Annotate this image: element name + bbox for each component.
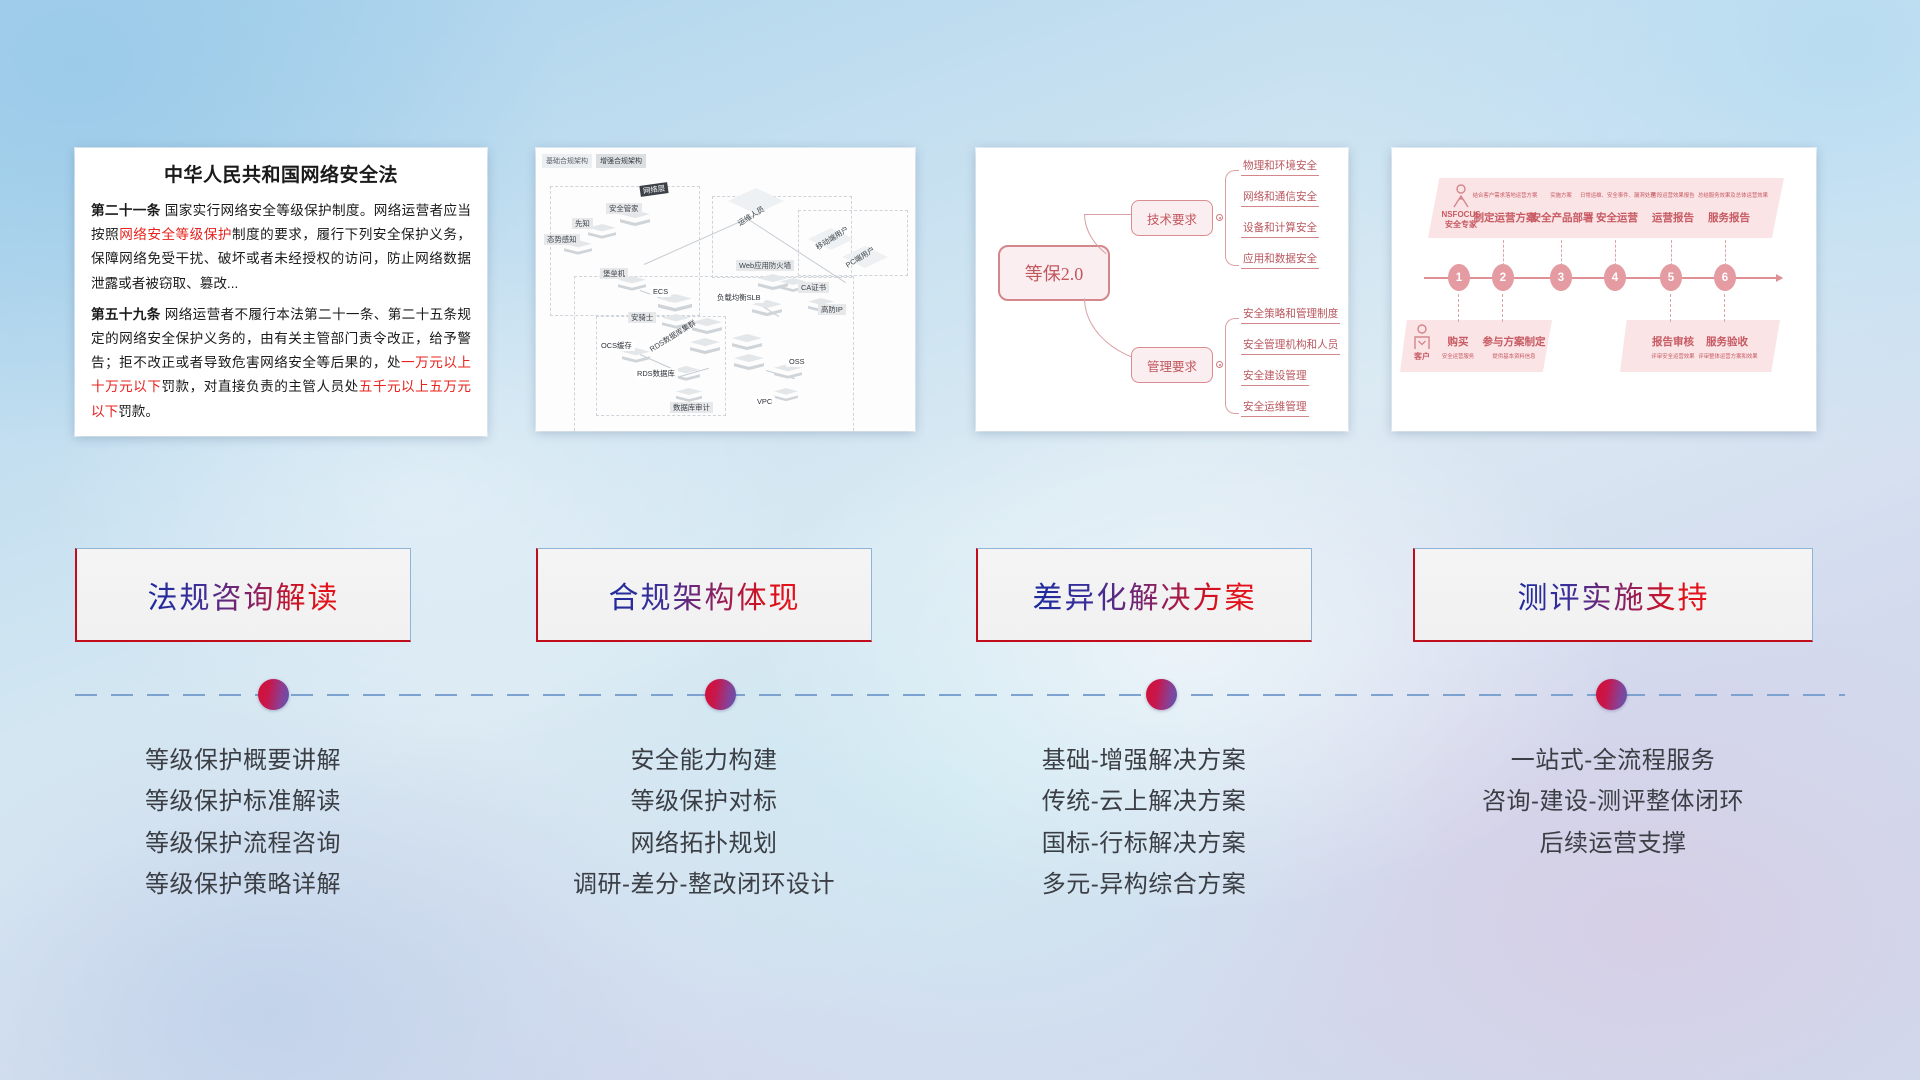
headline-label: 合规架构体现 bbox=[609, 573, 801, 617]
headline-box-compliance-architecture[interactable]: 合规架构体现 bbox=[536, 548, 872, 642]
node-rds-cluster-c bbox=[732, 334, 762, 356]
connector bbox=[1503, 240, 1504, 266]
detail-item: 网络拓扑规划 bbox=[536, 823, 872, 864]
detail-column-regulation-consulting: 等级保护概要讲解 等级保护标准解读 等级保护流程咨询 等级保护策略详解 bbox=[75, 740, 411, 905]
top-step-sub: 总结服务效果及总体运营效果 bbox=[1694, 191, 1772, 199]
tab-enhanced-architecture[interactable]: 增强合规架构 bbox=[596, 154, 646, 168]
law-title: 中华人民共和国网络安全法 bbox=[91, 160, 471, 187]
label-situation-awareness: 态势感知 bbox=[544, 234, 580, 245]
mindmap-collapse-icon-tech[interactable] bbox=[1216, 214, 1223, 221]
bottom-step-title: 服务验收 bbox=[1698, 334, 1756, 349]
detail-item: 等级保护概要讲解 bbox=[75, 740, 411, 781]
node-slb bbox=[752, 300, 782, 322]
connector bbox=[1458, 294, 1459, 322]
law-article-59: 第五十九条 网络运营者不履行本法第二十一条、第二十五条规定的网络安全保护义务的，… bbox=[91, 303, 471, 424]
connector bbox=[1670, 294, 1671, 322]
card-dengbao-mindmap[interactable]: 等保2.0 技术要求 管理要求 物理和环境安全 网络和通信安全 设备和计算安全 … bbox=[976, 148, 1348, 431]
mindmap-leaf: 安全建设管理 bbox=[1241, 368, 1309, 386]
connector bbox=[1671, 240, 1672, 266]
headline-label: 差异化解决方案 bbox=[1033, 573, 1257, 617]
timeline-node-4[interactable] bbox=[1596, 679, 1627, 710]
label-xianzhi: 先知 bbox=[572, 218, 593, 229]
law-article-21-label: 第二十一条 bbox=[91, 203, 161, 218]
label-database-audit: 数据库审计 bbox=[670, 402, 713, 413]
connector bbox=[1502, 294, 1503, 322]
label-security-manager: 安全管家 bbox=[606, 203, 642, 214]
card-cybersecurity-law[interactable]: 中华人民共和国网络安全法 第二十一条 国家实行网络安全等级保护制度。网络运营者应… bbox=[75, 148, 487, 436]
timeline-step-5[interactable]: 5 bbox=[1660, 264, 1682, 291]
card-nsfocus-service-timeline[interactable]: NSFOCUS 安全专家 客户 1 2 3 4 5 6 bbox=[1392, 148, 1816, 431]
headline-label: 法规咨询解读 bbox=[148, 573, 340, 617]
mindmap-bracket-mgmt bbox=[1225, 318, 1239, 414]
headline-box-regulation-consulting[interactable]: 法规咨询解读 bbox=[75, 548, 411, 642]
thumbnail-card-row: 中华人民共和国网络安全法 第二十一条 国家实行网络安全等级保护制度。网络运营者应… bbox=[0, 148, 1920, 438]
timeline-step-3[interactable]: 3 bbox=[1550, 264, 1572, 291]
bottom-step-title: 购买 bbox=[1436, 334, 1480, 349]
top-step-title: 服务报告 bbox=[1700, 210, 1758, 225]
timeline-step-4[interactable]: 4 bbox=[1604, 264, 1626, 291]
label-ocs-cache: OCS缓存 bbox=[598, 340, 635, 351]
mindmap-bracket-tech bbox=[1225, 170, 1239, 266]
mindmap-leaf: 安全运维管理 bbox=[1241, 399, 1309, 417]
timeline-step-1[interactable]: 1 bbox=[1448, 264, 1470, 291]
detail-column-evaluation-support: 一站式-全流程服务 咨询-建设-测评整体闭环 后续运营支撑 bbox=[1413, 740, 1813, 864]
detail-column-compliance-architecture: 安全能力构建 等级保护对标 网络拓扑规划 调研-差分-整改闭环设计 bbox=[536, 740, 872, 905]
label-waf: Web应用防火墙 bbox=[736, 260, 794, 271]
timeline-step-6[interactable]: 6 bbox=[1714, 264, 1736, 291]
law-article-59-text-b: 罚款，对直接负责的主管人员处 bbox=[161, 379, 358, 394]
tab-basic-architecture[interactable]: 基础合规架构 bbox=[542, 154, 592, 168]
detail-item: 一站式-全流程服务 bbox=[1413, 740, 1813, 781]
law-article-21-highlight: 网络安全等级保护 bbox=[119, 227, 232, 242]
detail-item: 国标-行标解决方案 bbox=[976, 823, 1312, 864]
service-timeline-diagram: NSFOCUS 安全专家 客户 1 2 3 4 5 6 bbox=[1392, 148, 1816, 431]
mindmap-leaf: 设备和计算安全 bbox=[1241, 220, 1319, 238]
bottom-step-title: 报告审核 bbox=[1644, 334, 1702, 349]
law-article-21: 第二十一条 国家实行网络安全等级保护制度。网络运营者应当按照网络安全等级保护制度… bbox=[91, 199, 471, 296]
label-bastion-host: 堡垒机 bbox=[600, 268, 628, 279]
node-vpc bbox=[774, 388, 798, 406]
mindmap-leaf: 网络和通信安全 bbox=[1241, 189, 1319, 207]
architecture-tabs[interactable]: 基础合规架构 增强合规架构 bbox=[542, 154, 646, 168]
top-step-title: 运营报告 bbox=[1644, 210, 1702, 225]
detail-item: 基础-增强解决方案 bbox=[976, 740, 1312, 781]
timeline-node-3[interactable] bbox=[1146, 679, 1177, 710]
detail-item: 后续运营支撑 bbox=[1413, 823, 1813, 864]
headline-label: 测评实施支持 bbox=[1518, 573, 1710, 617]
top-step-sub: 结合客户需求落地运营方案 bbox=[1470, 191, 1540, 199]
label-vpc: VPC bbox=[754, 396, 775, 407]
timeline-node-2[interactable] bbox=[705, 679, 736, 710]
detail-column-differentiated-solution: 基础-增强解决方案 传统-云上解决方案 国标-行标解决方案 多元-异构综合方案 bbox=[976, 740, 1312, 905]
mindmap-leaf: 安全管理机构和人员 bbox=[1241, 337, 1340, 355]
connector bbox=[1615, 240, 1616, 266]
bottom-step-sub: 安全运营服务 bbox=[1432, 352, 1484, 360]
detail-item: 多元-异构综合方案 bbox=[976, 864, 1312, 905]
bottom-step-sub: 评审整体运营方案和效果 bbox=[1692, 352, 1764, 360]
label-oss: OSS bbox=[786, 356, 808, 367]
detail-item: 等级保护策略详解 bbox=[75, 864, 411, 905]
mindmap-leaf: 物理和环境安全 bbox=[1241, 158, 1319, 176]
law-article-59-label: 第五十九条 bbox=[91, 307, 161, 322]
node-rds-cluster-b bbox=[690, 338, 720, 360]
label-ca-certificate: CA证书 bbox=[798, 282, 829, 293]
mindmap-branch-management: 管理要求 bbox=[1131, 347, 1213, 383]
connector bbox=[1724, 294, 1725, 322]
timeline-dashed-line bbox=[75, 694, 1845, 696]
mindmap-branch-technical: 技术要求 bbox=[1131, 200, 1213, 236]
label-slb: 负载均衡SLB bbox=[714, 292, 764, 303]
mindmap-diagram: 等保2.0 技术要求 管理要求 物理和环境安全 网络和通信安全 设备和计算安全 … bbox=[976, 148, 1348, 431]
mindmap-collapse-icon-mgmt[interactable] bbox=[1216, 361, 1223, 368]
label-anti-ddos-ip: 高防IP bbox=[818, 304, 846, 315]
timeline-node-1[interactable] bbox=[258, 679, 289, 710]
detail-item: 等级保护对标 bbox=[536, 781, 872, 822]
slide-canvas: 中华人民共和国网络安全法 第二十一条 国家实行网络安全等级保护制度。网络运营者应… bbox=[0, 0, 1920, 1080]
law-article-59-text-c: 罚款。 bbox=[118, 404, 159, 419]
detail-item: 咨询-建设-测评整体闭环 bbox=[1413, 781, 1813, 822]
headline-box-differentiated-solution[interactable]: 差异化解决方案 bbox=[976, 548, 1312, 642]
mindmap-leaf: 安全策略和管理制度 bbox=[1241, 306, 1340, 324]
node-rds-cluster-d bbox=[734, 354, 764, 376]
connector bbox=[1725, 240, 1726, 266]
customer-person-icon bbox=[1412, 324, 1432, 350]
bottom-step-sub: 提供基本资料信息 bbox=[1480, 352, 1548, 360]
headline-box-evaluation-support[interactable]: 测评实施支持 bbox=[1413, 548, 1813, 642]
detail-item: 传统-云上解决方案 bbox=[976, 781, 1312, 822]
law-document: 中华人民共和国网络安全法 第二十一条 国家实行网络安全等级保护制度。网络运营者应… bbox=[75, 148, 487, 436]
top-step-sub: 日常运维、安全事件、漏洞处理 bbox=[1580, 191, 1654, 199]
architecture-diagram: 基础合规架构 增强合规架构 网络层 bbox=[536, 148, 915, 431]
top-step-title: 安全运营 bbox=[1588, 210, 1646, 225]
headline-row: 法规咨询解读 合规架构体现 差异化解决方案 测评实施支持 bbox=[0, 548, 1920, 642]
timeline-step-2[interactable]: 2 bbox=[1492, 264, 1514, 291]
detail-item: 调研-差分-整改闭环设计 bbox=[536, 864, 872, 905]
expert-person-icon bbox=[1450, 184, 1472, 208]
detail-item: 等级保护流程咨询 bbox=[75, 823, 411, 864]
label-rds-database: RDS数据库 bbox=[634, 368, 678, 379]
card-cloud-architecture[interactable]: 基础合规架构 增强合规架构 网络层 bbox=[536, 148, 915, 431]
detail-item: 安全能力构建 bbox=[536, 740, 872, 781]
bottom-step-title: 参与方案制定 bbox=[1478, 334, 1550, 349]
label-anqishi: 安骑士 bbox=[628, 312, 656, 323]
detail-item: 等级保护标准解读 bbox=[75, 781, 411, 822]
mindmap-root-node: 等保2.0 bbox=[998, 245, 1110, 301]
label-ecs: ECS bbox=[650, 286, 671, 297]
mindmap-leaf: 应用和数据安全 bbox=[1241, 251, 1319, 269]
connector bbox=[1561, 240, 1562, 266]
